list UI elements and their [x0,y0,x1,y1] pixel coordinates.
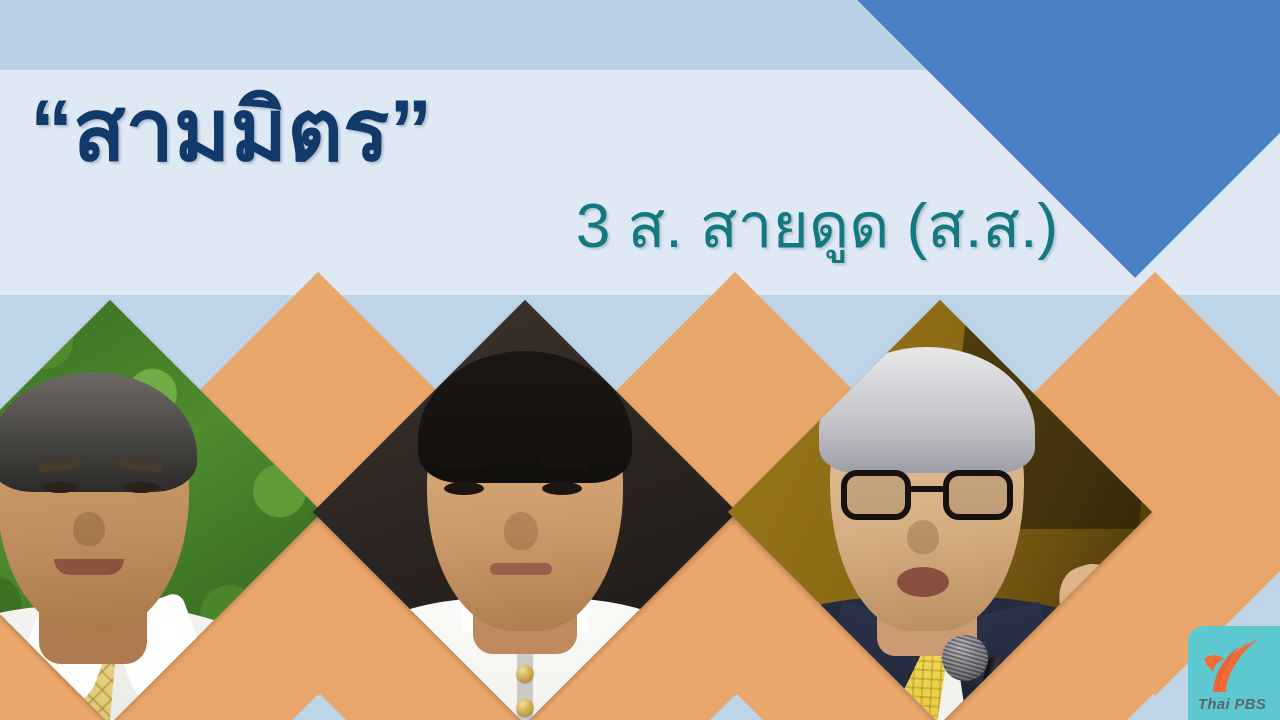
lens-right [943,470,1013,520]
mouth [54,559,124,575]
thai-pbs-logo: Thai PBS [1188,626,1280,720]
lens-left [841,470,911,520]
nose [73,512,105,546]
page-title: “สามมิตร” [30,88,432,174]
nose [907,520,939,554]
news-graphic-card: “สามมิตร” 3 ส. สายดูด (ส.ส.) Thai PBS [0,0,1280,720]
gold-button [517,699,534,716]
bird-swoosh-icon [1202,636,1264,698]
eyeglasses-icon [841,470,1013,522]
nose [504,512,538,550]
gold-button [517,665,534,682]
mouth [897,567,949,597]
logo-wordmark: Thai PBS [1188,696,1276,713]
lens-bridge [909,486,945,492]
page-subtitle: 3 ส. สายดูด (ส.ส.) [0,196,1058,258]
mouth [490,563,552,575]
